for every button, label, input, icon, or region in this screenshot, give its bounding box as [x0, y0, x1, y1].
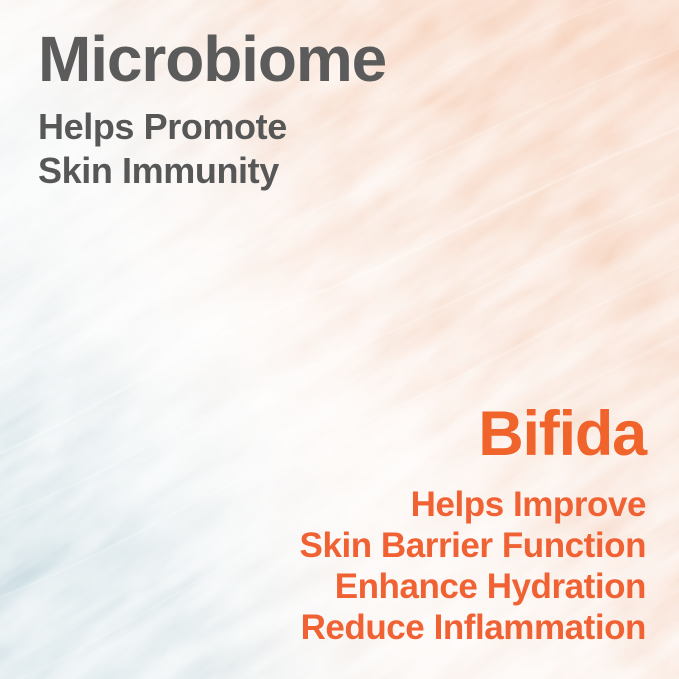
ingredient-benefit-poster: Microbiome Helps Promote Skin Immunity B…	[0, 0, 679, 679]
bifida-heading: Bifida	[300, 400, 646, 468]
bifida-benefit-line: Skin Barrier Function	[300, 525, 646, 566]
bifida-benefit-line: Reduce Inflammation	[300, 607, 646, 648]
bifida-benefit-list: Helps Improve Skin Barrier Function Enha…	[300, 484, 646, 648]
bifida-text-block: Bifida Helps Improve Skin Barrier Functi…	[300, 400, 646, 648]
microbiome-subtitle-line-2: Skin Immunity	[38, 149, 386, 193]
microbiome-heading: Microbiome	[38, 22, 386, 96]
microbiome-subtitle: Helps Promote Skin Immunity	[38, 105, 386, 193]
microbiome-subtitle-line-1: Helps Promote	[38, 105, 386, 149]
bifida-benefit-line: Enhance Hydration	[300, 566, 646, 607]
microbiome-text-block: Microbiome Helps Promote Skin Immunity	[38, 22, 386, 193]
bifida-benefit-line: Helps Improve	[300, 484, 646, 525]
